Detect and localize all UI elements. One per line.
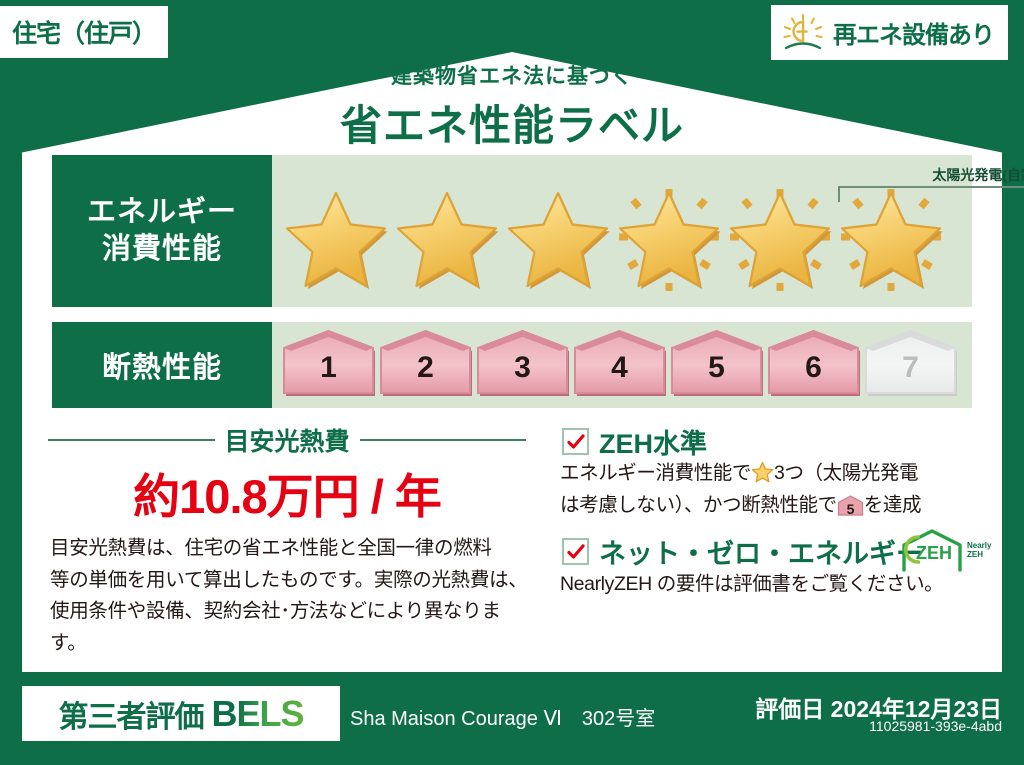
- energy-performance-row-body: 太陽光発電(自家消費)分: [272, 155, 972, 307]
- zeh-standard-checkbox[interactable]: [562, 428, 589, 455]
- insulation-grade-number: 6: [765, 351, 862, 385]
- insulation-grade-badge: 4: [571, 329, 668, 397]
- insulation-grade-number: 1: [280, 351, 377, 385]
- star-icon: [391, 187, 502, 299]
- insulation-grade-badge: 5: [668, 329, 765, 397]
- energy-label-line1: エネルギー: [87, 194, 237, 231]
- cost-note-line1: 目安光熱費は、住宅の省エネ性能と全国一律の燃料: [50, 533, 530, 565]
- inline-grade-number: 5: [837, 498, 864, 521]
- star-icon-solar: [835, 187, 946, 299]
- cost-note-line2: 等の単価を用いて算出したものです。実際の光熱費は、: [50, 565, 530, 597]
- net-zero-energy-row: ネット・ゼロ・エネルギー: [562, 532, 923, 571]
- insulation-performance-row: 断熱性能 1234567: [52, 322, 972, 408]
- zeh-logo-caption: Nearly ZEH: [967, 542, 997, 560]
- solar-self-consumption-note: 太陽光発電(自家消費)分: [837, 165, 1024, 185]
- zeh-desc-part-c: を達成: [864, 494, 921, 516]
- insulation-grade-number: 7: [862, 351, 959, 385]
- label-title: 省エネ性能ラベル: [0, 92, 1024, 153]
- svg-text:ZEH: ZEH: [916, 543, 952, 563]
- cost-note-line3: 使用条件や設備、契約会社･方法などにより異なります。: [50, 596, 530, 659]
- label-subtitle: 建築物省エネ法に基づく: [0, 60, 1024, 90]
- insulation-label: 断熱性能: [102, 344, 222, 386]
- zeh-standard-title: ZEH水準: [599, 422, 707, 461]
- zeh-standard-row: ZEH水準: [562, 422, 707, 461]
- energy-performance-label: 住宅（住戸） 再エネ設備あり 建築物省エネ法に基づく: [0, 0, 1024, 765]
- bels-logo: BELS: [211, 693, 303, 735]
- label-footer: 第三者評価 BELS Sha Maison Courage Ⅵ 302号室 評価…: [0, 672, 1024, 765]
- evaluation-id: 11025981-393e-4abd: [869, 718, 1002, 734]
- renewable-equipment-badge: 再エネ設備あり: [771, 5, 1008, 60]
- star-icon-solar: [613, 187, 724, 299]
- dwelling-type-badge: 住宅（住戸）: [0, 6, 168, 58]
- zeh-standard-description: エネルギー消費性能で 3つ（太陽光発電 は考慮しない）、かつ断熱性能で 5を達成: [560, 458, 980, 521]
- insulation-grade-number: 2: [377, 351, 474, 385]
- insulation-grade-badge-inactive: 7: [862, 329, 959, 397]
- cost-heading-rule-left: [48, 439, 215, 441]
- check-icon: [566, 432, 586, 452]
- insulation-grade-scale: 1234567: [272, 329, 972, 401]
- inline-grade-badge: 5: [837, 494, 864, 516]
- energy-performance-row-label: エネルギー 消費性能: [52, 155, 272, 307]
- zeh-desc-part-b: は考慮しない）、かつ断熱性能で: [560, 494, 837, 516]
- third-party-evaluation-label: 第三者評価: [58, 692, 203, 736]
- zeh-house-icon: ZEH: [898, 528, 966, 572]
- estimated-cost-value: 約10.8万円 / 年: [48, 458, 526, 527]
- label-title-block: 建築物省エネ法に基づく 省エネ性能ラベル: [0, 60, 1024, 153]
- zeh-desc-part-a: エネルギー消費性能で: [560, 462, 751, 484]
- net-zero-energy-checkbox[interactable]: [562, 538, 589, 565]
- insulation-performance-row-label: 断熱性能: [52, 322, 272, 408]
- check-icon: [566, 542, 586, 562]
- estimated-cost-note: 目安光熱費は、住宅の省エネ性能と全国一律の燃料 等の単価を用いて算出したものです…: [50, 533, 530, 659]
- zeh-logo-caption-line2: ZEH: [967, 550, 983, 559]
- insulation-grade-number: 5: [668, 351, 765, 385]
- star-icon-solar: [724, 187, 835, 299]
- energy-performance-row: エネルギー 消費性能 太陽光発電(自家消費)分: [52, 155, 972, 307]
- star-icon: [280, 187, 391, 299]
- cost-heading-rule-right: [360, 439, 527, 441]
- star-rating: [272, 183, 972, 303]
- star-icon: [502, 187, 613, 299]
- insulation-grade-number: 3: [474, 351, 571, 385]
- insulation-grade-number: 4: [571, 351, 668, 385]
- insulation-performance-row-body: 1234567: [272, 322, 972, 408]
- renewable-equipment-label: 再エネ設備あり: [833, 15, 994, 50]
- inline-star-icon: [751, 461, 774, 483]
- energy-label-line2: 消費性能: [102, 231, 222, 268]
- cost-heading-label: 目安光熱費: [225, 422, 350, 458]
- insulation-grade-badge: 3: [474, 329, 571, 397]
- net-zero-energy-title: ネット・ゼロ・エネルギー: [599, 532, 923, 571]
- building-name: Sha Maison Courage Ⅵ 302号室: [350, 702, 655, 731]
- zeh-logo-caption-line1: Nearly: [967, 541, 991, 550]
- zeh-logo: ZEH Nearly ZEH: [898, 528, 994, 574]
- insulation-grade-badge: 6: [765, 329, 862, 397]
- dwelling-type-label: 住宅（住戸）: [12, 14, 156, 50]
- bels-plate: 第三者評価 BELS: [22, 686, 340, 741]
- solar-sun-icon: [781, 13, 825, 53]
- net-zero-energy-description: NearlyZEH の要件は評価書をご覧ください。: [560, 570, 990, 599]
- insulation-grade-badge: 1: [280, 329, 377, 397]
- zeh-desc-star-count: 3つ（太陽光発電: [774, 462, 918, 484]
- insulation-grade-badge: 2: [377, 329, 474, 397]
- estimated-cost-heading: 目安光熱費: [48, 422, 526, 458]
